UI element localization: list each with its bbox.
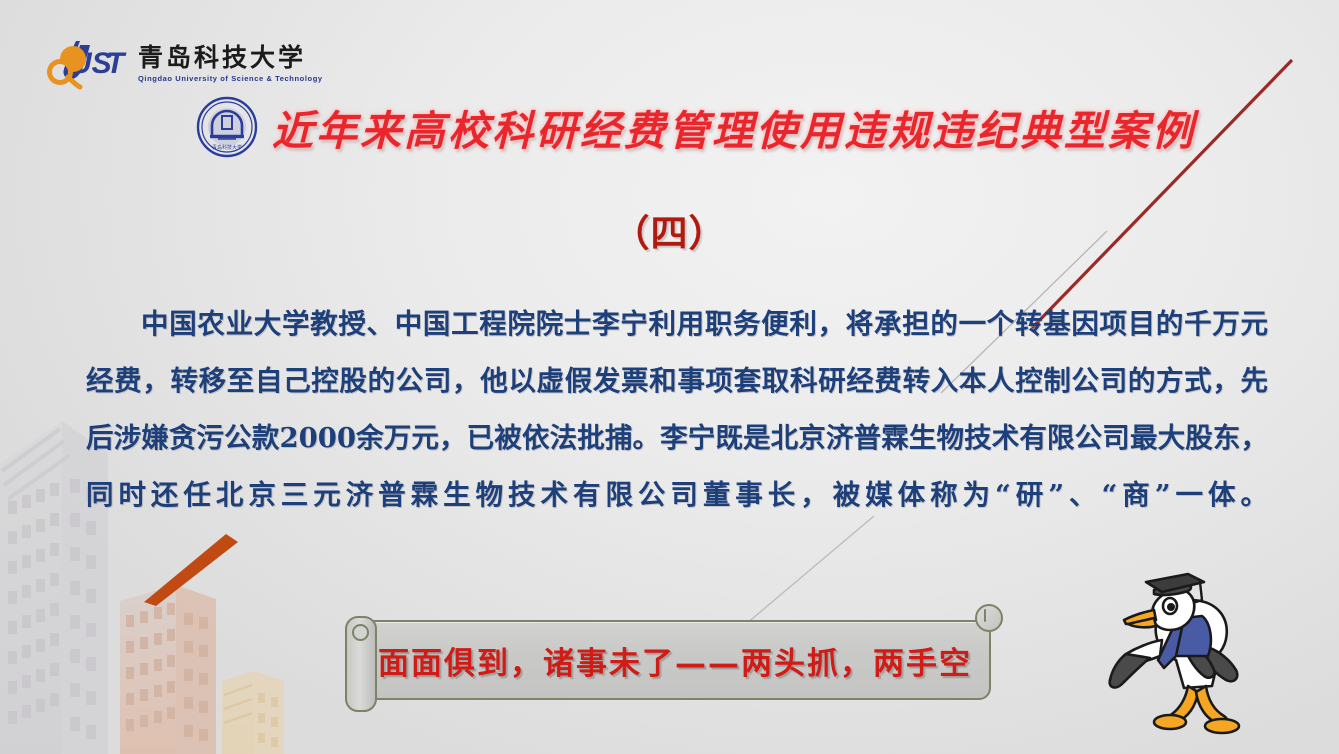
presentation-slide: US T 青岛科技大学 Qingdao University of Scienc… [0,0,1339,754]
red-diagonal-accent-line [1020,40,1320,340]
page-subtitle: （四） [0,203,1339,257]
scroll-banner-text: 面面俱到，诸事未了——两头抓，两手空 [378,638,972,683]
scroll-left-curl-icon [345,616,377,712]
scroll-banner: 面面俱到，诸事未了——两头抓，两手空 [345,612,1005,710]
university-emblem-icon: 青岛科技大学 [196,96,258,158]
svg-text:青岛科技大学: 青岛科技大学 [212,144,242,151]
title-row: 青岛科技大学 近年来高校科研经费管理使用违规违纪典型案例 [196,96,1196,158]
svg-text:T: T [106,47,127,80]
logo-name-cn: 青岛科技大学 [138,45,323,71]
university-logo: US T 青岛科技大学 Qingdao University of Scienc… [46,32,336,94]
page-title: 近年来高校科研经费管理使用违规违纪典型案例 [272,97,1196,157]
scroll-right-curl-icon [975,604,1003,632]
qust-logo-icon: US T [46,35,132,91]
logo-name-en: Qingdao University of Science & Technolo… [138,74,323,83]
orange-diagonal-accent-mark [138,528,258,608]
seagull-graduate-mascot [1092,556,1282,746]
scroll-banner-body: 面面俱到，诸事未了——两头抓，两手空 [359,620,991,700]
body-paragraph: 中国农业大学教授、中国工程院院士李宁利用职务便利，将承担的一个转基因项目的千万元… [86,296,1268,524]
